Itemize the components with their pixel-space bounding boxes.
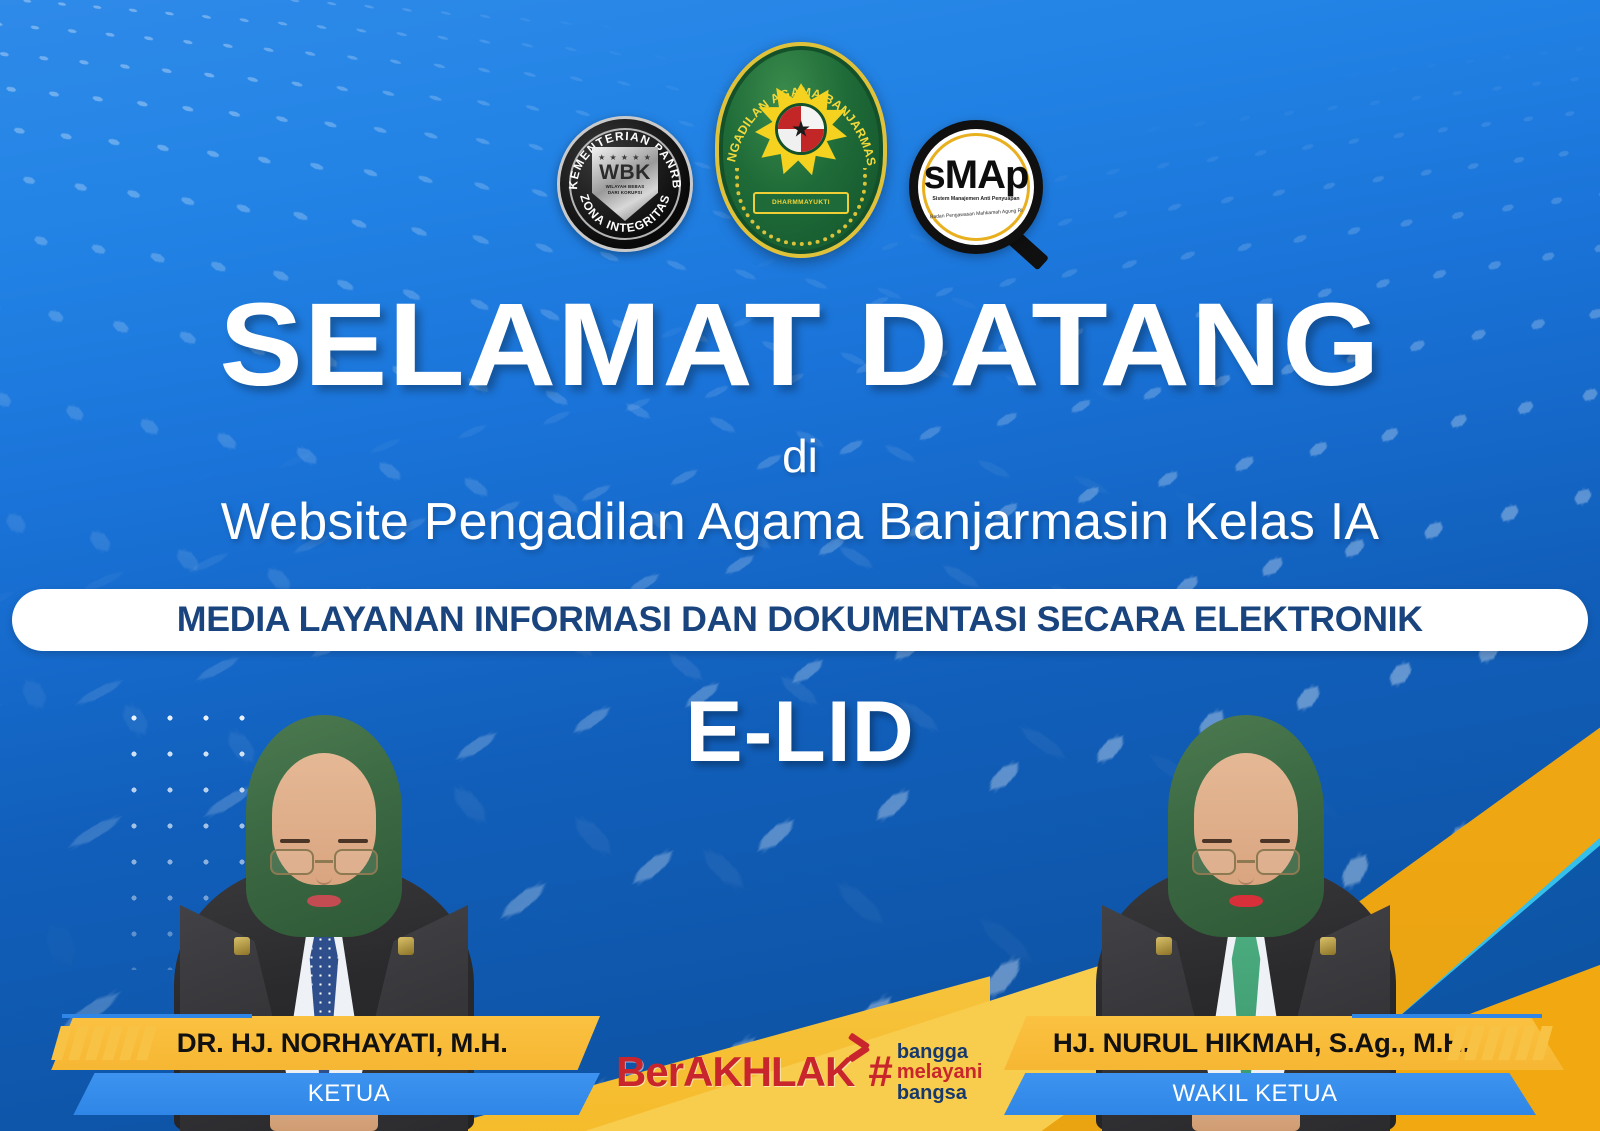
official-name-label: DR. HJ. NORHAYATI, M.H. — [177, 1028, 508, 1059]
official-role-bar: WAKIL KETUA — [1004, 1073, 1536, 1115]
check-swoosh-icon — [848, 1036, 874, 1066]
wbk-zona-integritas-icon: KEMENTERIAN PANRB ZONA INTEGRITAS ★ ★ ★ … — [557, 116, 693, 252]
smap-line-1: Sistem Manajemen Anti Penyuapan — [932, 196, 1019, 202]
lapel-pin-left-icon — [234, 937, 250, 955]
wbk-acronym: WBK — [599, 162, 651, 184]
logo-row: KEMENTERIAN PANRB ZONA INTEGRITAS ★ ★ ★ … — [0, 42, 1600, 258]
face — [272, 753, 376, 885]
slash-marks-right — [1452, 1026, 1548, 1060]
pengadilan-agama-banjarmasin-icon: PENGADILAN AGAMA BANJARMASIN DHARMMAYUKT… — [715, 42, 887, 258]
lapel-pin-right-icon — [398, 937, 414, 955]
smap-icon: sMAp Sistem Manajemen Anti Penyuapan Bad… — [909, 120, 1043, 254]
service-ribbon-label: MEDIA LAYANAN INFORMASI DAN DOKUMENTASI … — [177, 600, 1423, 640]
page-title: SELAMAT DATANG — [0, 286, 1600, 404]
court-crest — [775, 103, 827, 155]
nameplate-ketua: DR. HJ. NORHAYATI, M.H. KETUA — [40, 1016, 600, 1115]
court-motto-label: DHARMMAYUKTI — [772, 199, 830, 206]
tag-line-2: melayani — [897, 1062, 983, 1082]
tag-line-1: bangga — [897, 1042, 983, 1062]
subtitle-preposition: di — [0, 433, 1600, 479]
smap-acronym: sMAp — [924, 157, 1029, 193]
lapel-pin-left-icon — [1156, 937, 1172, 955]
dot-pattern-top-right — [0, 0, 1600, 21]
berakhlak-wordmark: BerAKHLAK — [616, 1048, 854, 1096]
service-ribbon-banner: MEDIA LAYANAN INFORMASI DAN DOKUMENTASI … — [12, 589, 1588, 651]
nameplate-accent-line — [1352, 1014, 1542, 1018]
smap-circle: sMAp Sistem Manajemen Anti Penyuapan Bad… — [909, 120, 1043, 254]
tag-line-3: bangsa — [897, 1083, 983, 1103]
face — [1194, 753, 1298, 885]
welcome-banner-poster: KEMENTERIAN PANRB ZONA INTEGRITAS ★ ★ ★ … — [0, 0, 1600, 1131]
court-motto-banner: DHARMMAYUKTI — [753, 192, 849, 214]
wbk-sub-line-2: DARI KORUPSI — [608, 190, 642, 196]
lapel-pin-right-icon — [1320, 937, 1336, 955]
slash-marks-left — [56, 1026, 152, 1060]
official-role-bar: KETUA — [68, 1073, 600, 1115]
bangga-melayani-bangsa-tag: # bangga melayani bangsa — [868, 1042, 982, 1103]
smap-line-2: Badan Pengawasan Mahkamah Agung RI — [929, 208, 1022, 220]
berakhlak-logo: BerAKHLAK # bangga melayani bangsa — [616, 1042, 982, 1103]
subtitle-website-name: Website Pengadilan Agama Banjarmasin Kel… — [0, 495, 1600, 550]
nameplate-wakil-ketua: HJ. NURUL HIKMAH, S.Ag., M.H. WAKIL KETU… — [1004, 1016, 1564, 1115]
official-name-label: HJ. NURUL HIKMAH, S.Ag., M.H. — [1053, 1028, 1470, 1059]
nameplate-accent-line — [62, 1014, 252, 1018]
official-role-label: WAKIL KETUA — [1172, 1080, 1337, 1108]
official-role-label: KETUA — [308, 1080, 391, 1108]
